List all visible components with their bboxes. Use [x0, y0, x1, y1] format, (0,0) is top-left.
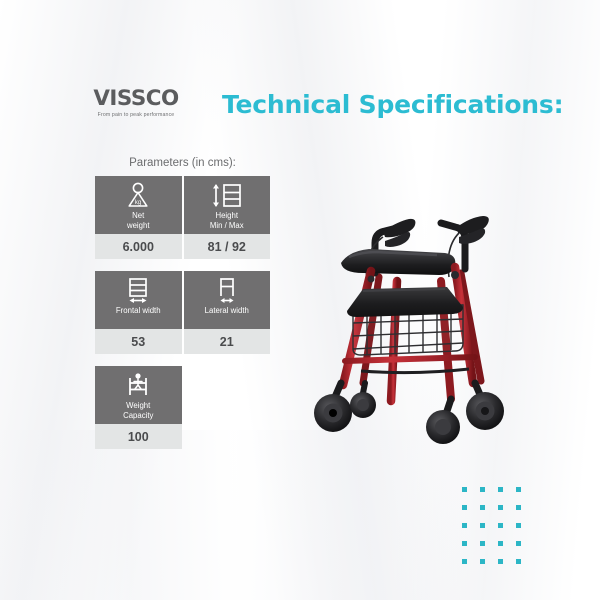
- spec-label: Frontal width: [116, 306, 161, 316]
- table-header-row: Frontal width Lateral width: [95, 271, 270, 329]
- brand-name: VISSCO: [81, 88, 191, 109]
- wheel-rear-left: [350, 383, 376, 418]
- dot: [516, 559, 521, 564]
- dot: [516, 523, 521, 528]
- wheel-rear-right: [426, 399, 460, 444]
- spec-header-frontal-width: Frontal width: [95, 271, 182, 329]
- dot: [516, 541, 521, 546]
- table-row-group: kg Net weight: [95, 176, 270, 259]
- handgrip-right: [457, 216, 489, 244]
- wheel-front-left: [314, 383, 352, 432]
- dot: [462, 505, 467, 510]
- spec-label: Net weight: [127, 211, 150, 230]
- handgrip-left: [383, 219, 415, 247]
- spec-label: Lateral width: [205, 306, 249, 316]
- dot: [462, 523, 467, 528]
- table-caption: Parameters (in cms):: [95, 157, 270, 169]
- backrest: [341, 249, 455, 275]
- spec-label: Height Min / Max: [210, 211, 244, 230]
- page-title: Technical Specifications:: [222, 90, 563, 119]
- weight-kg-icon: kg: [125, 182, 151, 209]
- dot: [498, 541, 503, 546]
- dot: [462, 487, 467, 492]
- lateral-width-icon: [212, 277, 242, 304]
- dot: [516, 505, 521, 510]
- dot: [480, 541, 485, 546]
- spec-header-height: Height Min / Max: [184, 176, 271, 234]
- frontal-width-icon: [123, 277, 153, 304]
- brand-tagline: From pain to peak performance: [82, 112, 190, 118]
- dot: [462, 541, 467, 546]
- wheel-front-right: [466, 383, 504, 430]
- weight-capacity-icon: [123, 372, 153, 399]
- dot: [516, 487, 521, 492]
- spec-header-weight-capacity: Weight Capacity: [95, 366, 182, 424]
- dot: [480, 487, 485, 492]
- dot-grid-decoration: [462, 487, 525, 568]
- table-header-row: Weight Capacity: [95, 366, 270, 424]
- svg-text:kg: kg: [135, 200, 141, 206]
- dot: [462, 559, 467, 564]
- spec-label: Weight Capacity: [123, 401, 153, 420]
- dot: [480, 559, 485, 564]
- height-minmax-icon: [210, 182, 244, 209]
- table-header-row: kg Net weight: [95, 176, 270, 234]
- spec-header-net-weight: kg Net weight: [95, 176, 182, 234]
- spec-header-lateral-width: Lateral width: [184, 271, 271, 329]
- dot: [498, 559, 503, 564]
- table-value-row: 53 21: [95, 329, 270, 354]
- spec-value-frontal-width: 53: [95, 329, 182, 354]
- dot: [498, 505, 503, 510]
- spec-value-height: 81 / 92: [184, 234, 271, 259]
- dot: [498, 487, 503, 492]
- seat: [347, 287, 463, 317]
- product-image-rollator-walker: [305, 185, 540, 445]
- table-row-group: Frontal width Lateral width: [95, 271, 270, 354]
- spec-value-lateral-width: 21: [184, 329, 271, 354]
- table-row-group: Weight Capacity 100: [95, 366, 270, 449]
- spec-table: kg Net weight: [95, 176, 270, 461]
- specification-sheet: VISSCO From pain to peak performance Tec…: [0, 0, 600, 600]
- table-value-row: 100: [95, 424, 270, 449]
- dot: [480, 505, 485, 510]
- table-value-row: 6.000 81 / 92: [95, 234, 270, 259]
- spec-value-net-weight: 6.000: [95, 234, 182, 259]
- dot: [480, 523, 485, 528]
- brand-logo: VISSCO From pain to peak performance: [82, 88, 190, 118]
- dot: [498, 523, 503, 528]
- spec-value-weight-capacity: 100: [95, 424, 182, 449]
